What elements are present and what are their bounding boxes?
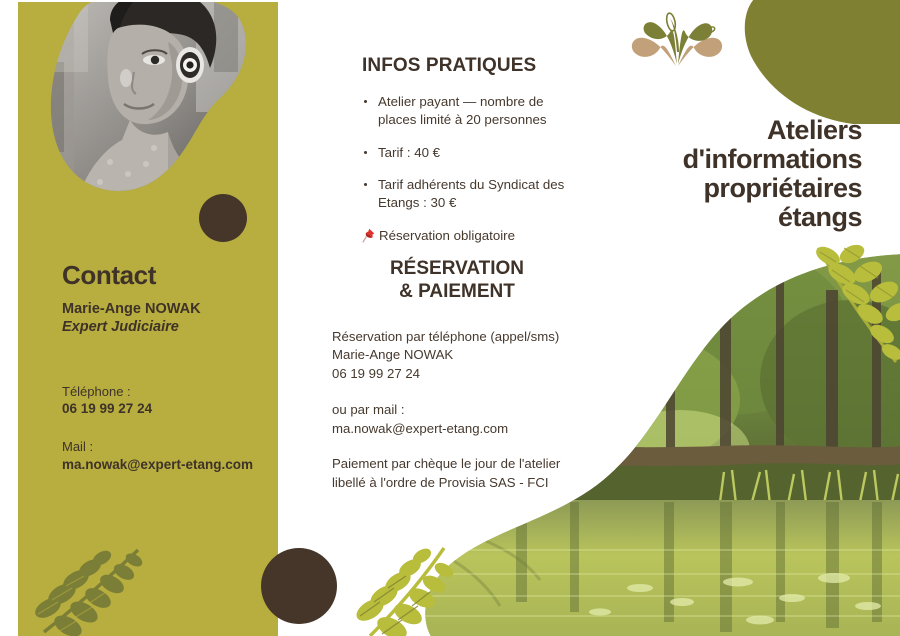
title-line: d'informations: [532, 145, 862, 174]
portrait-photo-woman: [18, 2, 278, 222]
flyer-canvas: Ateliers d'informations propriétaires ét…: [0, 0, 900, 636]
list-item: Tarif adhérents du Syndicat des Etangs :…: [362, 176, 572, 213]
contact-name: Marie-Ange NOWAK: [62, 300, 277, 318]
contact-heading: Contact: [62, 262, 277, 289]
title-line: propriétaires: [532, 174, 862, 203]
fern-leaf-icon: [34, 544, 152, 636]
reservation-phone-block: Réservation par téléphone (appel/sms) Ma…: [332, 328, 582, 384]
olive-blob-shape: [735, 0, 900, 124]
mail-label: Mail :: [62, 438, 277, 456]
infos-bullet-list: Atelier payant — nombre de places limité…: [362, 93, 572, 213]
reservation-payment-block: Paiement par chèque le jour de l'atelier…: [332, 455, 582, 492]
list-item: Tarif : 40 €: [362, 144, 572, 162]
title-line: étangs: [532, 203, 862, 232]
mail-value: ma.nowak@expert-etang.com: [62, 456, 277, 474]
infos-pratiques-section: INFOS PRATIQUES Atelier payant — nombre …: [362, 55, 572, 245]
reservation-heading-line2: & PAIEMENT: [332, 281, 582, 304]
contact-section: Contact Marie-Ange NOWAK Expert Judiciai…: [62, 262, 277, 474]
title-line: Ateliers: [532, 116, 862, 145]
reservation-required-note: Réservation obligatoire: [362, 227, 572, 246]
sprout-motif: [630, 8, 726, 70]
reservation-section: RÉSERVATION & PAIEMENT Réservation par t…: [332, 258, 582, 493]
brown-circle: [261, 548, 337, 624]
pushpin-icon: [362, 228, 375, 243]
reservation-heading: RÉSERVATION & PAIEMENT: [332, 258, 582, 304]
reservation-heading-line1: RÉSERVATION: [332, 258, 582, 281]
phone-value: 06 19 99 27 24: [62, 400, 277, 418]
brown-circle: [199, 194, 247, 242]
fern-leaf-icon: [812, 244, 900, 368]
contact-role: Expert Judiciaire: [62, 318, 277, 336]
fern-leaf-icon: [352, 540, 462, 636]
infos-heading: INFOS PRATIQUES: [362, 55, 572, 77]
list-item: Atelier payant — nombre de places limité…: [362, 93, 572, 130]
reservation-mail-block: ou par mail : ma.nowak@expert-etang.com: [332, 401, 582, 438]
reservation-required-text: Réservation obligatoire: [379, 227, 515, 246]
phone-label: Téléphone :: [62, 383, 277, 401]
page-title: Ateliers d'informations propriétaires ét…: [532, 116, 862, 232]
